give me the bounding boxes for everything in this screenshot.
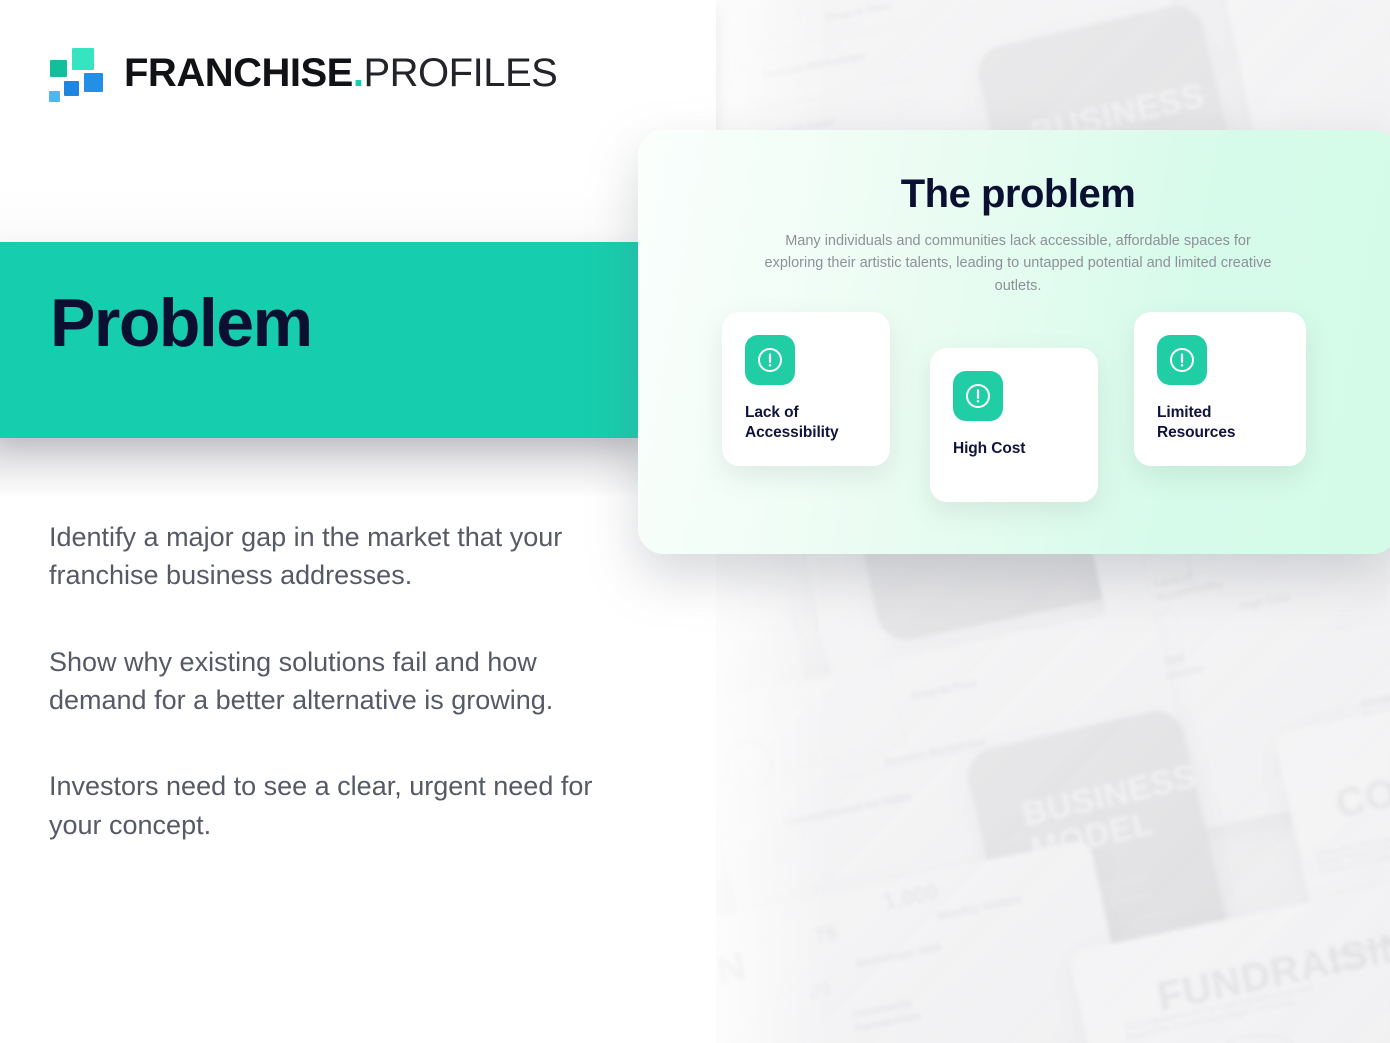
slide-preview-card[interactable]: The problem Many individuals and communi… — [638, 130, 1390, 554]
header-sheet — [0, 0, 716, 242]
problem-card-label: Limited Resources — [1157, 403, 1292, 444]
brand-wordmark: FRANCHISE.PROFILES — [124, 53, 557, 93]
slide-preview-subtitle: Many individuals and communities lack ac… — [756, 230, 1280, 297]
logo-square-mint — [72, 48, 94, 70]
body-paragraph: Investors need to see a clear, urgent ne… — [49, 767, 624, 844]
slide-preview-title: The problem — [638, 172, 1390, 217]
left-content-panel: FRANCHISE.PROFILES Problem Identify a ma… — [0, 0, 716, 1043]
logo-mark-icon — [48, 46, 106, 100]
brand-logo[interactable]: FRANCHISE.PROFILES — [48, 46, 557, 100]
problem-card[interactable]: Limited Resources — [1134, 312, 1306, 466]
body-paragraph: Identify a major gap in the market that … — [49, 518, 624, 595]
brand-name-light: PROFILES — [363, 51, 557, 95]
logo-square-sky — [49, 91, 60, 102]
problem-card[interactable]: Lack of Accessibility — [722, 312, 890, 466]
logo-square-blue — [84, 73, 103, 92]
body-copy: Identify a major gap in the market that … — [49, 518, 624, 844]
brand-name-dot: . — [353, 51, 364, 95]
section-banner: Problem — [0, 242, 638, 438]
exclamation-circle-icon — [745, 335, 795, 385]
banner-drop-shadow — [0, 438, 638, 498]
logo-square-teal-dark — [50, 60, 67, 77]
brand-name-bold: FRANCHISE — [124, 51, 353, 95]
page-title: Problem — [50, 289, 312, 357]
problem-card-label: High Cost — [953, 439, 1084, 459]
exclamation-circle-icon — [953, 371, 1003, 421]
logo-square-blue-small — [64, 81, 79, 96]
problem-card-label: Lack of Accessibility — [745, 403, 876, 444]
problem-card[interactable]: High Cost — [930, 348, 1098, 502]
exclamation-circle-icon — [1157, 335, 1207, 385]
body-paragraph: Show why existing solutions fail and how… — [49, 643, 624, 720]
